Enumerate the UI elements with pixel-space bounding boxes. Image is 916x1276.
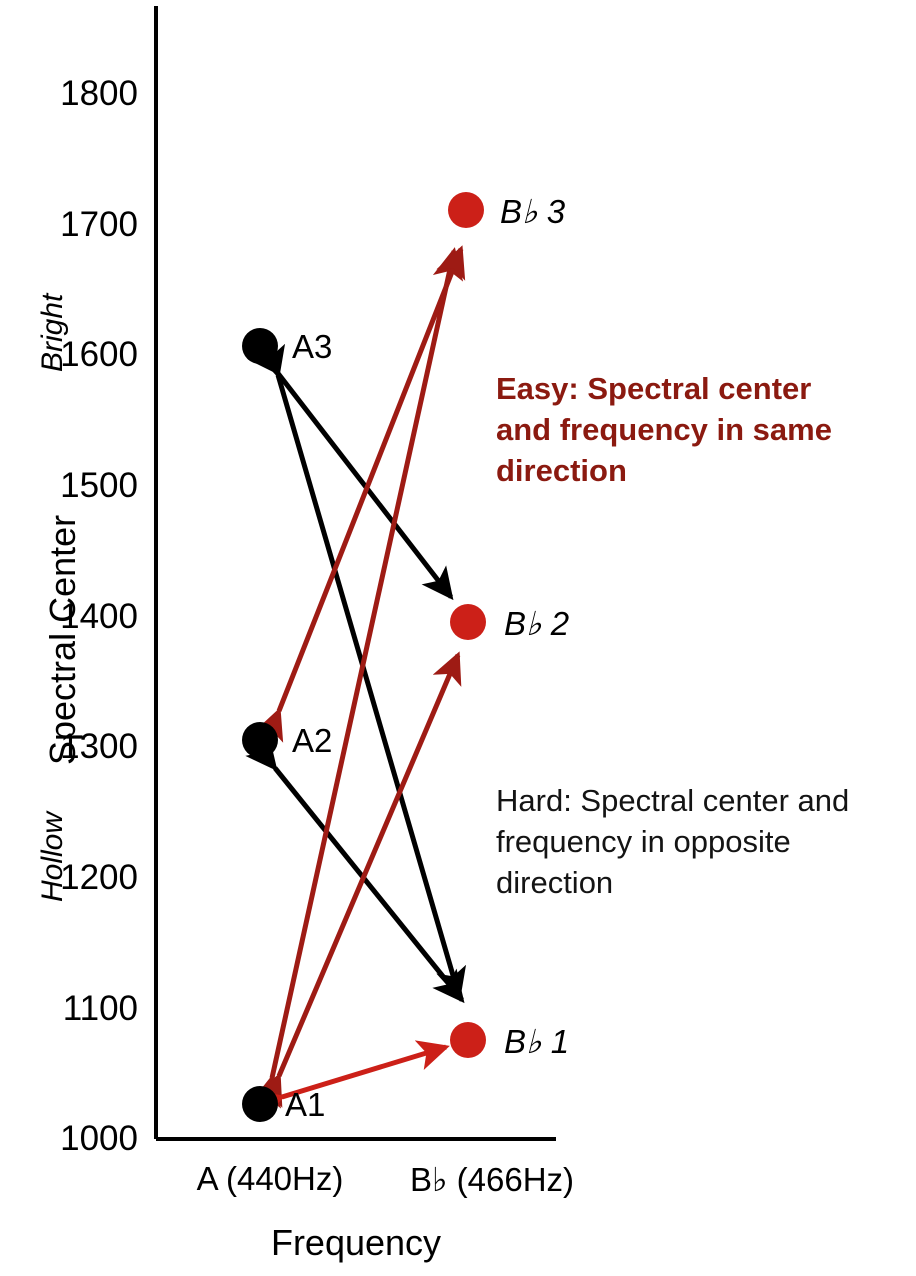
data-point-bb1[interactable] [450, 1022, 486, 1058]
connection-arrows-hard [275, 372, 462, 1000]
arrow-a2-bb1 [275, 768, 462, 1000]
x-category-a: A (440Hz) [170, 1160, 370, 1198]
x-axis-title: Frequency [196, 1222, 516, 1264]
arrow-a3-bb2 [277, 372, 451, 597]
data-point-bb3[interactable] [448, 192, 484, 228]
point-label-a1: A1 [285, 1086, 325, 1124]
data-point-a1[interactable] [242, 1086, 278, 1122]
point-label-bb1: B♭ 1 [504, 1022, 569, 1061]
figure-root: 1800 1700 1600 1500 1400 1300 1200 1100 … [0, 0, 916, 1276]
y-tick-1500: 1500 [0, 466, 138, 506]
y-tick-1100: 1100 [0, 989, 138, 1029]
chart-canvas [0, 0, 916, 1276]
point-label-bb3: B♭ 3 [500, 192, 565, 231]
data-point-a3[interactable] [242, 328, 278, 364]
point-label-a2: A2 [292, 722, 332, 760]
x-category-bflat: B♭ (466Hz) [382, 1160, 602, 1199]
arrow-a3-bb1 [278, 375, 459, 996]
point-label-bb2: B♭ 2 [504, 604, 569, 643]
arrow-a1-bb2 [279, 655, 458, 1076]
y-pole-hollow-label: Hollow [36, 812, 70, 902]
annotation-hard: Hard: Spectral center and frequency in o… [496, 780, 896, 904]
y-axis-title: Spectral Center [42, 515, 84, 765]
axis-lines [156, 6, 556, 1139]
y-tick-1000: 1000 [0, 1119, 138, 1159]
point-label-a3: A3 [292, 328, 332, 366]
y-tick-1800: 1800 [0, 74, 138, 114]
y-tick-1700: 1700 [0, 205, 138, 245]
data-point-bb2[interactable] [450, 604, 486, 640]
y-pole-bright-label: Bright [36, 294, 70, 372]
annotation-easy: Easy: Spectral center and frequency in s… [496, 368, 856, 492]
data-point-a2[interactable] [242, 722, 278, 758]
